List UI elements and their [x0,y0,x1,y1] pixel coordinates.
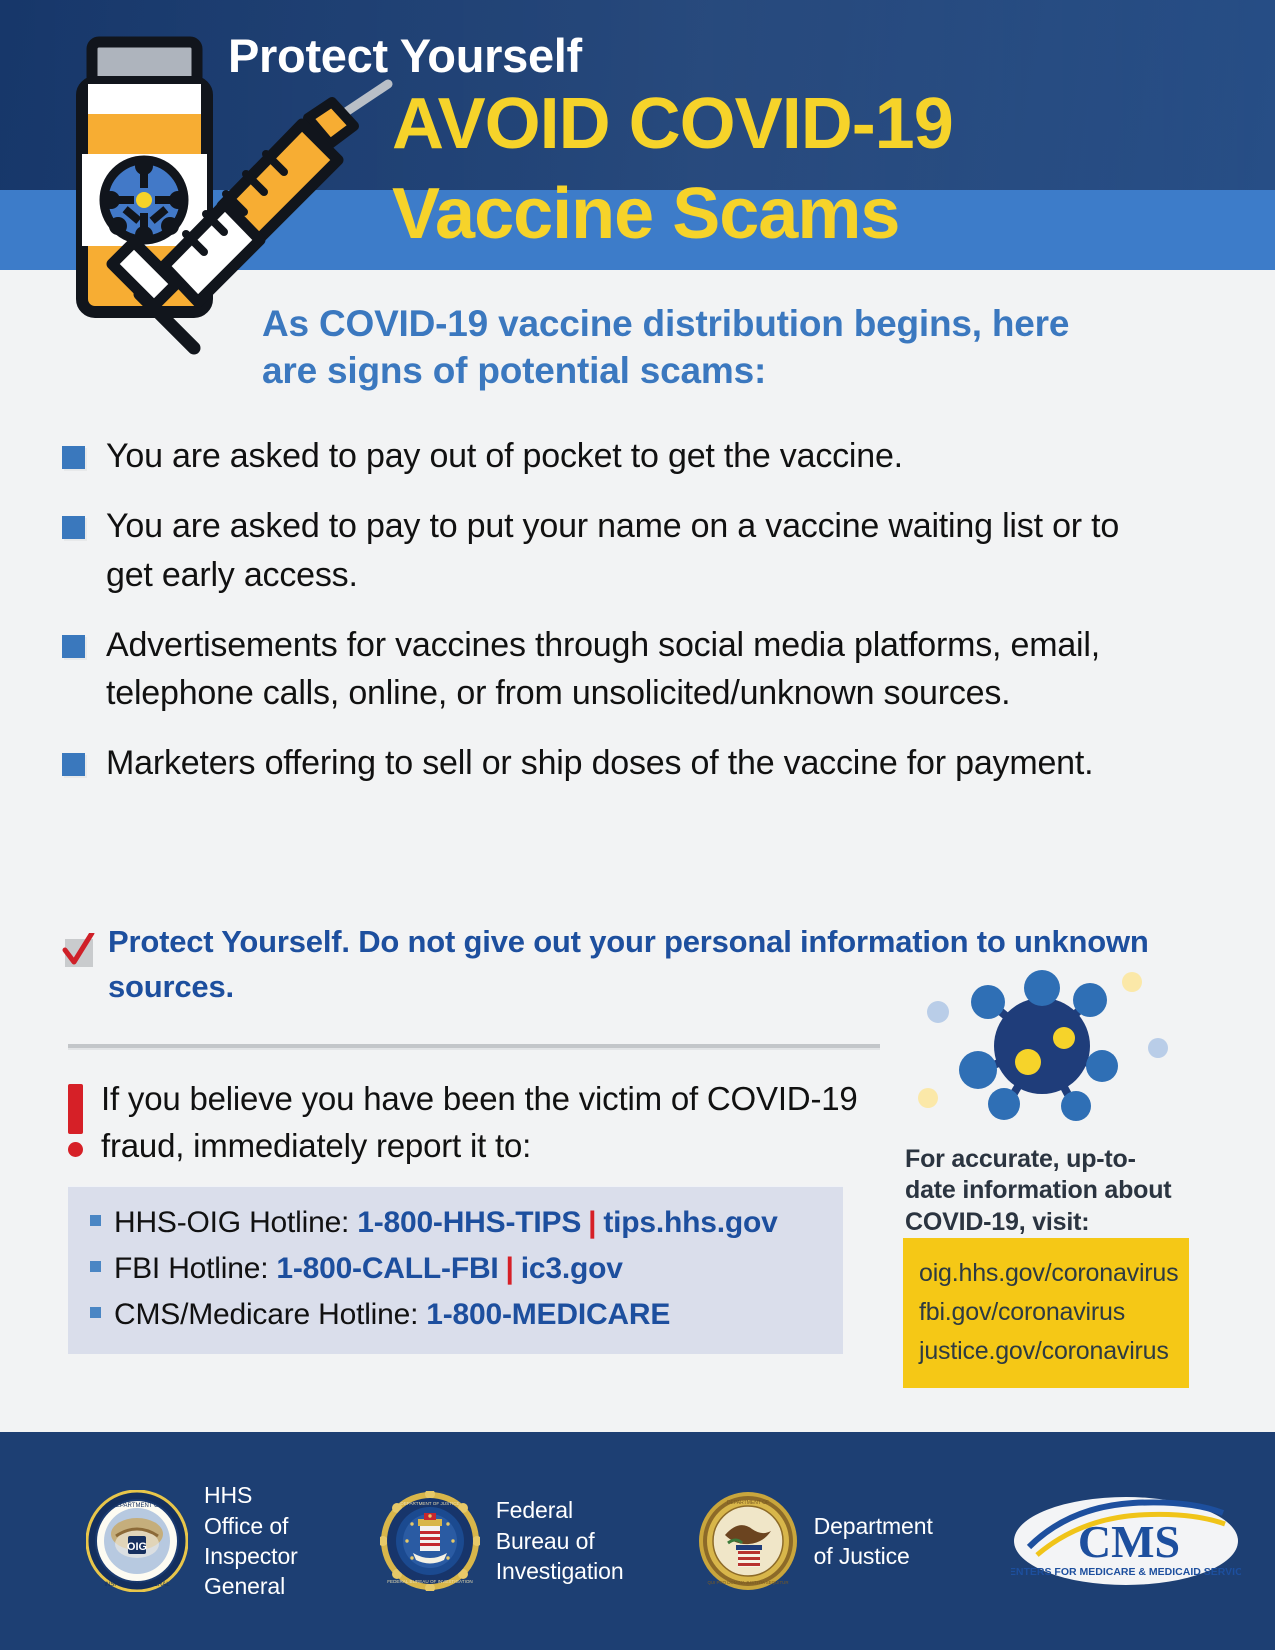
agency-label-line: Inspector [204,1541,298,1571]
svg-text:DEPARTMENT OF: DEPARTMENT OF [726,1500,768,1506]
hotline-phone[interactable]: 1-800-HHS-TIPS [357,1206,581,1239]
resource-url[interactable]: oig.hhs.gov/coronavirus [919,1254,1189,1293]
svg-text:INSPECTOR GENERAL: INSPECTOR GENERAL [104,1582,170,1588]
hhs-oig-seal-icon: OIG DEPARTMENT OF INSPECTOR GENERAL [86,1490,188,1592]
header-title-line2: Vaccine Scams [392,178,899,250]
agency-label-line: of Justice [814,1541,933,1571]
scam-sign-text: You are asked to pay to put your name on… [106,502,1166,599]
report-fraud-text: If you believe you have been the victim … [101,1076,868,1170]
infographic-poster: Protect Yourself AVOID COVID-19 Vaccine … [0,0,1275,1650]
agency-label-line: Department [814,1511,933,1541]
agency-fbi: DEPARTMENT OF JUSTICE FEDERAL BUREAU OF … [380,1491,624,1591]
resources-url-box: oig.hhs.gov/coronavirus fbi.gov/coronavi… [903,1238,1189,1388]
virus-dot [918,1088,938,1108]
hotline-url[interactable]: ic3.gov [521,1252,623,1285]
list-item: HHS-OIG Hotline:1-800-HHS-TIPS|tips.hhs.… [68,1206,843,1240]
vaccine-bottle-and-syringe-illustration [70,26,410,386]
square-bullet-icon [90,1307,101,1318]
hotline-list-box: HHS-OIG Hotline:1-800-HHS-TIPS|tips.hhs.… [68,1186,843,1354]
virus-dot [927,1001,949,1023]
hotline-phone[interactable]: 1-800-MEDICARE [426,1298,670,1331]
section-divider [68,1044,880,1050]
square-bullet-icon [62,446,85,469]
svg-text:FEDERAL BUREAU OF INVESTIGATIO: FEDERAL BUREAU OF INVESTIGATION [387,1579,473,1584]
agency-cms: CMS CENTERS FOR MEDICARE & MEDICAID SERV… [1011,1485,1241,1597]
fbi-seal-icon: DEPARTMENT OF JUSTICE FEDERAL BUREAU OF … [380,1491,480,1591]
list-item: CMS/Medicare Hotline:1-800-MEDICARE [68,1298,843,1332]
list-item: FBI Hotline:1-800-CALL-FBI|ic3.gov [68,1252,843,1286]
hotline-label: FBI Hotline: [114,1252,268,1285]
coronavirus-icon [890,970,1190,1135]
agency-label-line: HHS [204,1480,298,1510]
scam-signs-list: You are asked to pay out of pocket to ge… [62,432,1187,810]
check-mark-icon [62,933,96,967]
svg-text:DEPARTMENT OF JUSTICE: DEPARTMENT OF JUSTICE [400,1501,459,1506]
square-bullet-icon [62,516,85,539]
doj-seal-icon: DEPARTMENT OF QUI PRO DOMINA JUSTITIA SE… [698,1491,798,1591]
footer-bar: OIG DEPARTMENT OF INSPECTOR GENERAL HHS … [0,1432,1275,1650]
svg-text:OIG: OIG [127,1541,147,1553]
hotline-label: CMS/Medicare Hotline: [114,1298,418,1331]
agency-label-line: Investigation [496,1556,624,1586]
exclamation-icon [68,1084,84,1156]
agency-label-line: Federal [496,1495,624,1525]
agency-label-line: Office of [204,1511,298,1541]
virus-dot [1122,972,1142,992]
virus-dot [1148,1038,1168,1058]
agency-fbi-label: Federal Bureau of Investigation [496,1495,624,1586]
square-bullet-icon [90,1215,101,1226]
scam-sign-text: You are asked to pay out of pocket to ge… [106,432,903,480]
list-item: Marketers offering to sell or ship doses… [62,739,1187,787]
agency-label-line: General [204,1571,298,1601]
cms-tagline: CENTERS FOR MEDICARE & MEDICAID SERVICES [1011,1566,1241,1578]
hotline-separator: | [506,1252,514,1285]
virus-spot [1015,1049,1041,1075]
cms-logo-icon: CMS CENTERS FOR MEDICARE & MEDICAID SERV… [1011,1485,1241,1597]
list-item: You are asked to pay out of pocket to ge… [62,432,1187,480]
agency-label-line: Bureau of [496,1526,624,1556]
list-item: You are asked to pay to put your name on… [62,502,1187,599]
resource-url[interactable]: fbi.gov/coronavirus [919,1293,1189,1332]
svg-text:QUI PRO DOMINA JUSTITIA SEQUIT: QUI PRO DOMINA JUSTITIA SEQUITUR [707,1580,788,1585]
cms-wordmark: CMS [1078,1516,1180,1567]
list-item: Advertisements for vaccines through soci… [62,621,1187,718]
hotline-label: HHS-OIG Hotline: [114,1206,349,1239]
square-bullet-icon [90,1261,101,1272]
square-bullet-icon [62,635,85,658]
header-title-line1: AVOID COVID-19 [392,88,953,160]
scam-sign-text: Marketers offering to sell or ship doses… [106,739,1093,787]
agency-doj-label: Department of Justice [814,1511,933,1572]
virus-body [994,998,1090,1094]
hotline-phone[interactable]: 1-800-CALL-FBI [276,1252,498,1285]
svg-text:DEPARTMENT OF: DEPARTMENT OF [112,1503,163,1509]
hotline-separator: | [588,1206,596,1239]
resource-url[interactable]: justice.gov/coronavirus [919,1332,1189,1371]
agency-doj: DEPARTMENT OF QUI PRO DOMINA JUSTITIA SE… [698,1491,933,1591]
hotline-url[interactable]: tips.hhs.gov [603,1206,777,1239]
scam-sign-text: Advertisements for vaccines through soci… [106,621,1166,718]
agency-hhs-oig-label: HHS Office of Inspector General [204,1480,298,1601]
virus-spot [1053,1027,1075,1049]
report-fraud-block: If you believe you have been the victim … [68,1076,868,1170]
agency-hhs-oig: OIG DEPARTMENT OF INSPECTOR GENERAL HHS … [86,1480,298,1601]
resources-heading: For accurate, up-to-date information abo… [905,1144,1180,1238]
square-bullet-icon [62,753,85,776]
